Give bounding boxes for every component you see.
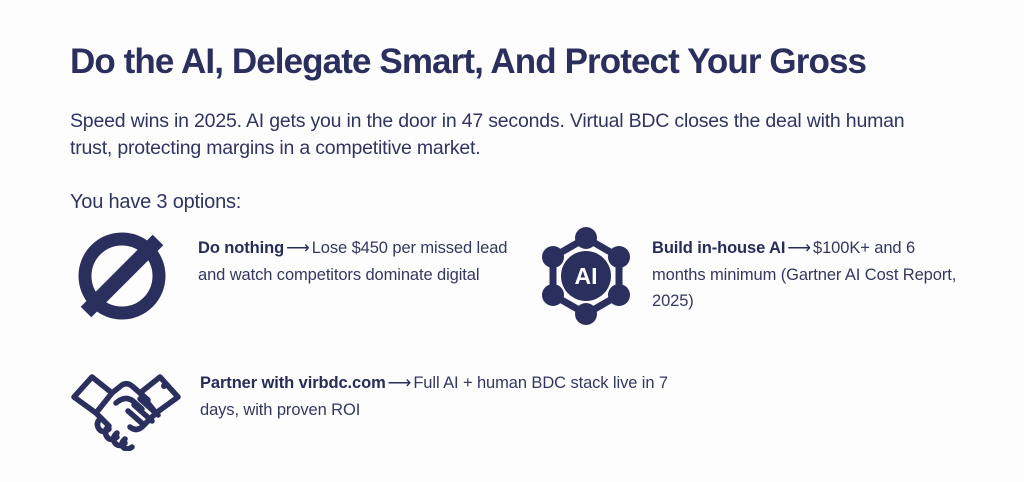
arrow-icon: ⟶	[386, 374, 414, 392]
arrow-icon: ⟶	[785, 239, 813, 257]
prohibition-icon	[70, 224, 174, 328]
ai-label: AI	[575, 263, 598, 289]
option-text: Build in-house AI⟶$100K+ and 6 months mi…	[652, 224, 964, 315]
subtitle-paragraph: Speed wins in 2025. AI gets you in the d…	[70, 108, 910, 163]
option-label: Partner with virbdc.com	[200, 374, 386, 392]
option-text: Partner with virbdc.com⟶Full AI + human …	[200, 362, 690, 423]
option-build-in-house: AI Build in-house AI⟶$100K+ and 6 months…	[534, 224, 964, 328]
option-text: Do nothing⟶Lose $450 per missed lead and…	[198, 224, 510, 288]
options-lead-in: You have 3 options:	[70, 191, 241, 214]
option-partner: Partner with virbdc.com⟶Full AI + human …	[70, 362, 690, 452]
option-label: Build in-house AI	[652, 239, 785, 257]
option-do-nothing: Do nothing⟶Lose $450 per missed lead and…	[70, 224, 510, 328]
option-label: Do nothing	[198, 239, 284, 257]
arrow-icon: ⟶	[284, 239, 312, 257]
ai-network-icon: AI	[534, 224, 638, 328]
handshake-icon	[70, 362, 182, 452]
page-title: Do the AI, Delegate Smart, And Protect Y…	[70, 43, 866, 82]
infographic-canvas: Do the AI, Delegate Smart, And Protect Y…	[0, 0, 1024, 482]
